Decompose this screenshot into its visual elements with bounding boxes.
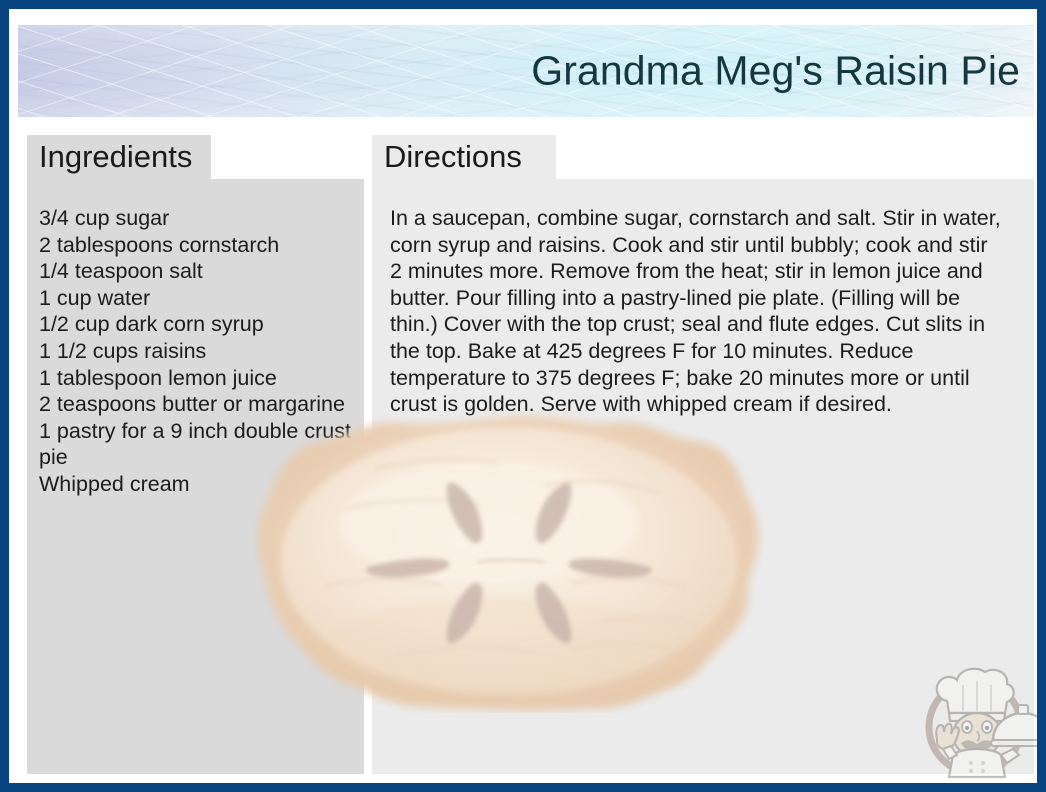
ingredients-heading: Ingredients (27, 135, 206, 179)
list-item: 1/2 cup dark corn syrup (39, 311, 352, 338)
page-title: Grandma Meg's Raisin Pie (531, 48, 1020, 95)
list-item: 3/4 cup sugar (39, 205, 352, 232)
directions-panel: Directions In a saucepan, combine sugar,… (372, 135, 1034, 774)
list-item: 1 1/2 cups raisins (39, 338, 352, 365)
list-item: 1 cup water (39, 285, 352, 312)
header-banner: Grandma Meg's Raisin Pie (18, 25, 1034, 117)
ingredient-list: 3/4 cup sugar 2 tablespoons cornstarch 1… (39, 205, 352, 498)
list-item: 1 tablespoon lemon juice (39, 365, 352, 392)
list-item: 2 teaspoons butter or margarine (39, 391, 352, 418)
directions-tab-notch (556, 135, 1034, 179)
ingredients-tab-notch (211, 135, 364, 179)
directions-heading: Directions (372, 135, 536, 179)
ingredients-panel: Ingredients 3/4 cup sugar 2 tablespoons … (27, 135, 364, 774)
list-item: 1/4 teaspoon salt (39, 258, 352, 285)
list-item: 1 pastry for a 9 inch double crust pie (39, 418, 352, 471)
list-item: 2 tablespoons cornstarch (39, 232, 352, 259)
directions-body: In a saucepan, combine sugar, cornstarch… (372, 179, 1034, 774)
ingredients-body: 3/4 cup sugar 2 tablespoons cornstarch 1… (27, 179, 364, 774)
list-item: Whipped cream (39, 471, 352, 498)
directions-text: In a saucepan, combine sugar, cornstarch… (384, 205, 1022, 418)
recipe-card: Grandma Meg's Raisin Pie Ingredients 3/4… (0, 0, 1046, 792)
